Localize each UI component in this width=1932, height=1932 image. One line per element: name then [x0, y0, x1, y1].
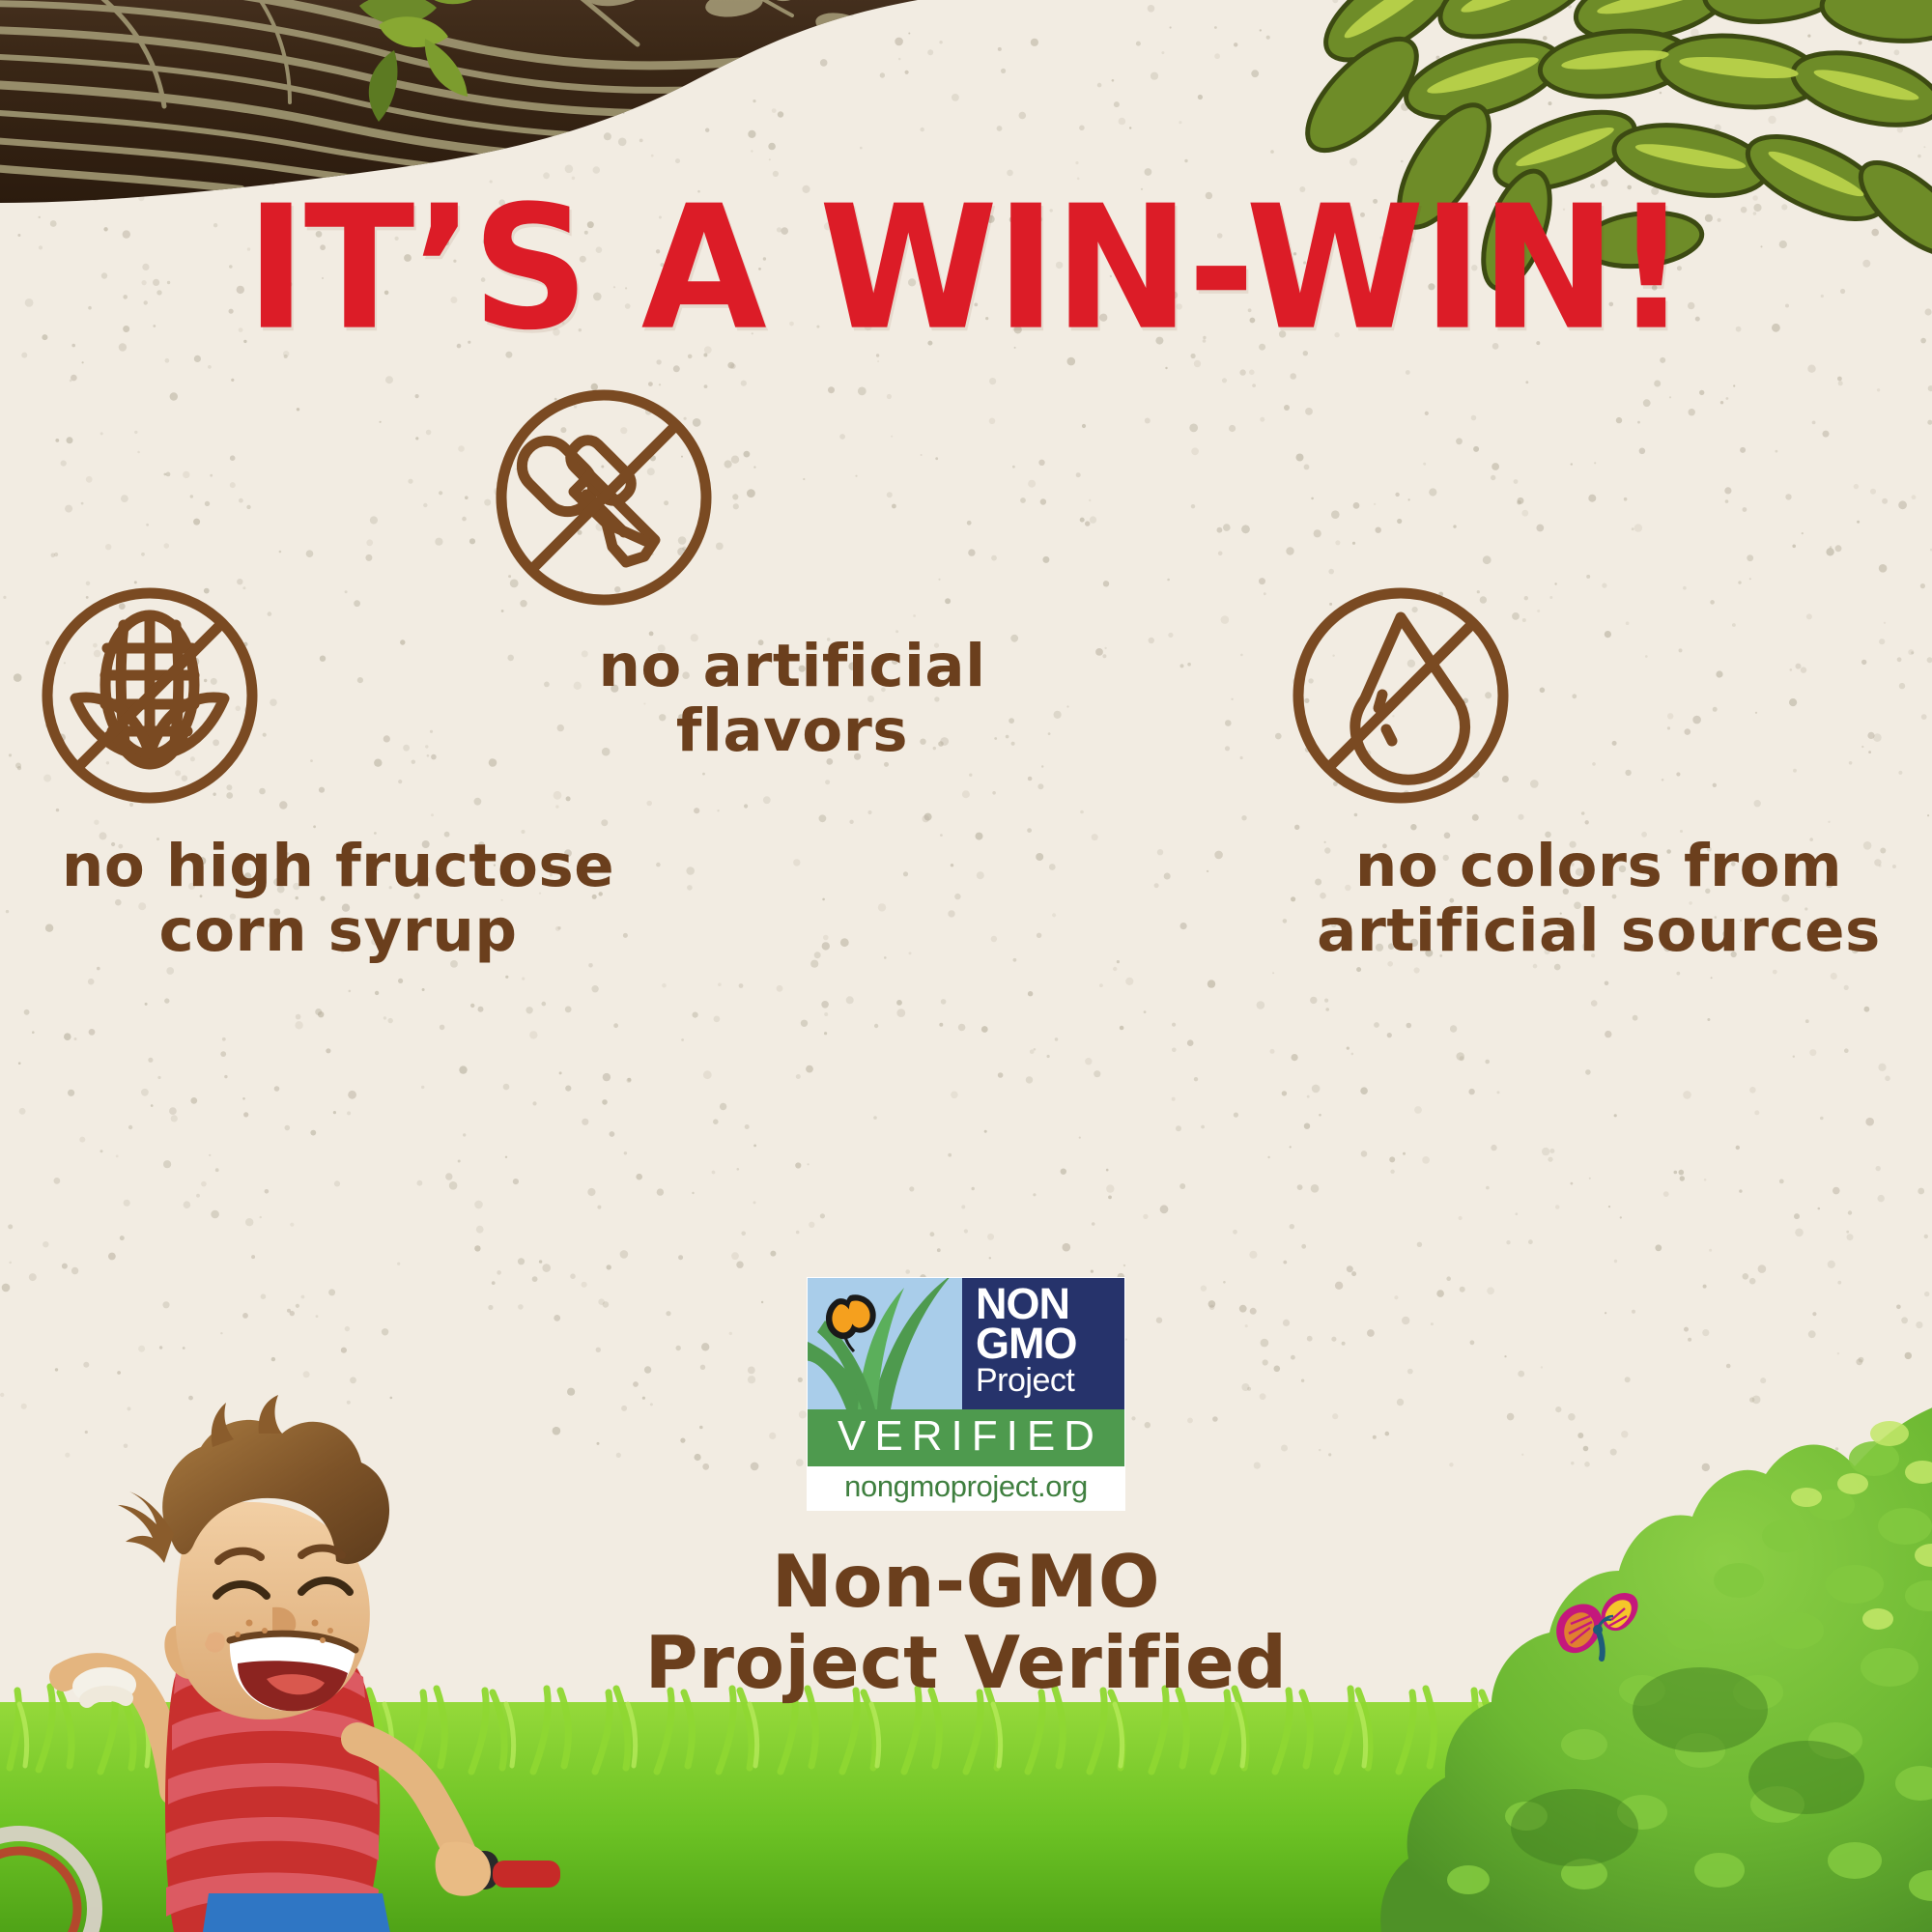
headline-text: IT’S A WIN-WIN!: [0, 184, 1932, 355]
claim-label-line1: no high fructose: [39, 834, 638, 898]
headline: IT’S A WIN-WIN!: [0, 184, 1932, 328]
no-droplet-icon: [1290, 584, 1908, 807]
badge-url-text: nongmoproject.org: [844, 1469, 1088, 1503]
badge-line-gmo: GMO: [976, 1323, 1117, 1363]
claim-label-line2: corn syrup: [39, 898, 638, 963]
claim-no-artificial-flavors: no artificial flavors: [493, 386, 1092, 763]
badge-line-verified: VERIFIED: [829, 1412, 1103, 1460]
badge-sky-panel: [808, 1278, 962, 1409]
badge-line-project: Project: [976, 1364, 1117, 1399]
no-dropper-icon: [493, 386, 1092, 609]
claim-label-line2: artificial sources: [1290, 898, 1908, 963]
claim-label-line2: flavors: [493, 698, 1092, 763]
badge-verified-bar: VERIFIED: [808, 1409, 1124, 1466]
boy-head: [118, 1395, 389, 1719]
claim-label-line1: no colors from: [1290, 834, 1908, 898]
badge-blue-panel: NON GMO Project: [962, 1278, 1124, 1409]
grass-blades-icon: [808, 1278, 962, 1409]
pink-butterfly-illustration: [1546, 1579, 1652, 1686]
claim-label-line1: no artificial: [493, 634, 1092, 698]
non-gmo-project-verified-seal: NON GMO Project VERIFIED nongmoproject.o…: [807, 1277, 1125, 1511]
claims-row: no high fructose corn syrup: [0, 386, 1932, 985]
laughing-boy-on-bicycle-illustration: [29, 1391, 551, 1932]
badge-line-non: NON: [976, 1284, 1117, 1323]
poster-canvas: IT’S A WIN-WIN!: [0, 0, 1932, 1932]
badge-url-bar: nongmoproject.org: [808, 1466, 1124, 1510]
claim-no-colors-from-artificial-sources: no colors from artificial sources: [1290, 584, 1908, 963]
bandage: [85, 1680, 126, 1700]
